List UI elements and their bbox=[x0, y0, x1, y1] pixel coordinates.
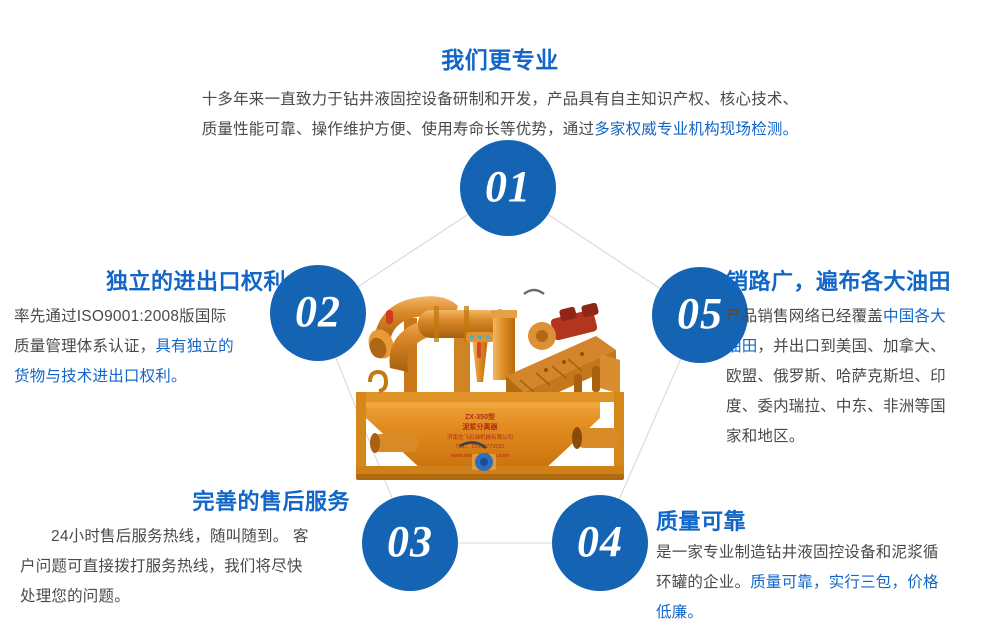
feature-05-line5: 家和地区。 bbox=[726, 428, 805, 445]
feature-04-heading: 质量可靠 bbox=[656, 508, 988, 536]
feature-04-body: 是一家专业制造钻井液固控设备和泥浆循 环罐的企业。质量可靠，实行三包，价格 低廉… bbox=[656, 538, 988, 629]
badge-03-label: 03 bbox=[387, 520, 433, 564]
feature-03-body: 24小时售后服务热线，随叫随到。 客 户问题可直接拨打服务热线，我们将尽快 处理… bbox=[20, 522, 350, 613]
svg-text:ZX-350型: ZX-350型 bbox=[465, 412, 495, 421]
feature-block-sales-network: 销路广，遍布各大油田 产品销售网络已经覆盖中国各大 油田，并出口到美国、加拿大、… bbox=[726, 268, 988, 453]
infographic-page: ZX-350型 泥浆分离器 济南志飞石油机械有限公司 TEL：159367710… bbox=[0, 0, 1000, 642]
svg-text:济南志飞石油机械有限公司: 济南志飞石油机械有限公司 bbox=[447, 433, 513, 441]
feature-block-after-sales: 完善的售后服务 24小时售后服务热线，随叫随到。 客 户问题可直接拨打服务热线，… bbox=[20, 488, 350, 612]
feature-04-line2-plain: 环罐的企业。 bbox=[656, 574, 750, 591]
feature-05-line2-plain: ，并出口到美国、加拿大、 bbox=[757, 338, 945, 355]
feature-01-body: 十多年来一直致力于钻井液固控设备研制和开发，产品具有自主知识产权、核心技术、 质… bbox=[155, 85, 845, 145]
feature-05-line4: 度、委内瑞拉、中东、非洲等国 bbox=[726, 398, 946, 415]
feature-block-quality: 质量可靠 是一家专业制造钻井液固控设备和泥浆循 环罐的企业。质量可靠，实行三包，… bbox=[656, 508, 988, 628]
badge-05-label: 05 bbox=[677, 292, 723, 336]
feature-02-heading: 独立的进出口权利 bbox=[14, 268, 286, 296]
feature-05-body: 产品销售网络已经覆盖中国各大 油田，并出口到美国、加拿大、 欧盟、俄罗斯、哈萨克… bbox=[726, 302, 988, 453]
badge-04[interactable]: 04 bbox=[552, 495, 648, 591]
feature-01-heading: 我们更专业 bbox=[155, 46, 845, 75]
feature-05-line1-highlight: 中国各大 bbox=[883, 308, 946, 325]
feature-01-line2-highlight: 多家权威专业机构现场检测。 bbox=[594, 121, 798, 138]
feature-05-line2-highlight: 油田 bbox=[726, 338, 757, 355]
feature-02-line2-plain: 质量管理体系认证， bbox=[14, 338, 155, 355]
feature-02-line3-highlight: 货物与技术进出口权利。 bbox=[14, 368, 187, 385]
badge-01[interactable]: 01 bbox=[460, 140, 556, 236]
feature-01-line1: 十多年来一直致力于钻井液固控设备研制和开发，产品具有自主知识产权、核心技术、 bbox=[202, 91, 799, 108]
feature-03-heading: 完善的售后服务 bbox=[20, 488, 350, 516]
feature-04-line2-highlight: 质量可靠，实行三包，价格 bbox=[750, 574, 938, 591]
svg-text:泥浆分离器: 泥浆分离器 bbox=[463, 422, 499, 431]
product-machine-illustration: ZX-350型 泥浆分离器 济南志飞石油机械有限公司 TEL：159367710… bbox=[348, 258, 648, 486]
feature-03-line2: 户问题可直接拨打服务热线，我们将尽快 bbox=[20, 558, 303, 575]
badge-04-label: 04 bbox=[577, 520, 623, 564]
feature-block-professional: 我们更专业 十多年来一直致力于钻井液固控设备研制和开发，产品具有自主知识产权、核… bbox=[155, 46, 845, 145]
feature-02-line1: 率先通过ISO9001:2008版国际 bbox=[14, 308, 226, 325]
feature-04-line1: 是一家专业制造钻井液固控设备和泥浆循 bbox=[656, 544, 939, 561]
feature-01-line2-plain: 质量性能可靠、操作维护方便、使用寿命长等优势，通过 bbox=[202, 121, 595, 138]
badge-02-label: 02 bbox=[295, 290, 341, 334]
feature-05-line3: 欧盟、俄罗斯、哈萨克斯坦、印 bbox=[726, 368, 946, 385]
feature-03-line3: 处理您的问题。 bbox=[20, 588, 130, 605]
feature-block-import-export: 独立的进出口权利 率先通过ISO9001:2008版国际 质量管理体系认证，具有… bbox=[14, 268, 286, 392]
feature-05-heading: 销路广，遍布各大油田 bbox=[726, 268, 988, 296]
badge-03[interactable]: 03 bbox=[362, 495, 458, 591]
feature-02-body: 率先通过ISO9001:2008版国际 质量管理体系认证，具有独立的 货物与技术… bbox=[14, 302, 286, 393]
feature-03-line1: 24小时售后服务热线，随叫随到。 客 bbox=[51, 528, 309, 545]
feature-05-line1-plain: 产品销售网络已经覆盖 bbox=[726, 308, 883, 325]
feature-04-line3-highlight: 低廉。 bbox=[656, 604, 703, 621]
badge-01-label: 01 bbox=[485, 165, 531, 209]
feature-02-line2-highlight: 具有独立的 bbox=[155, 338, 234, 355]
